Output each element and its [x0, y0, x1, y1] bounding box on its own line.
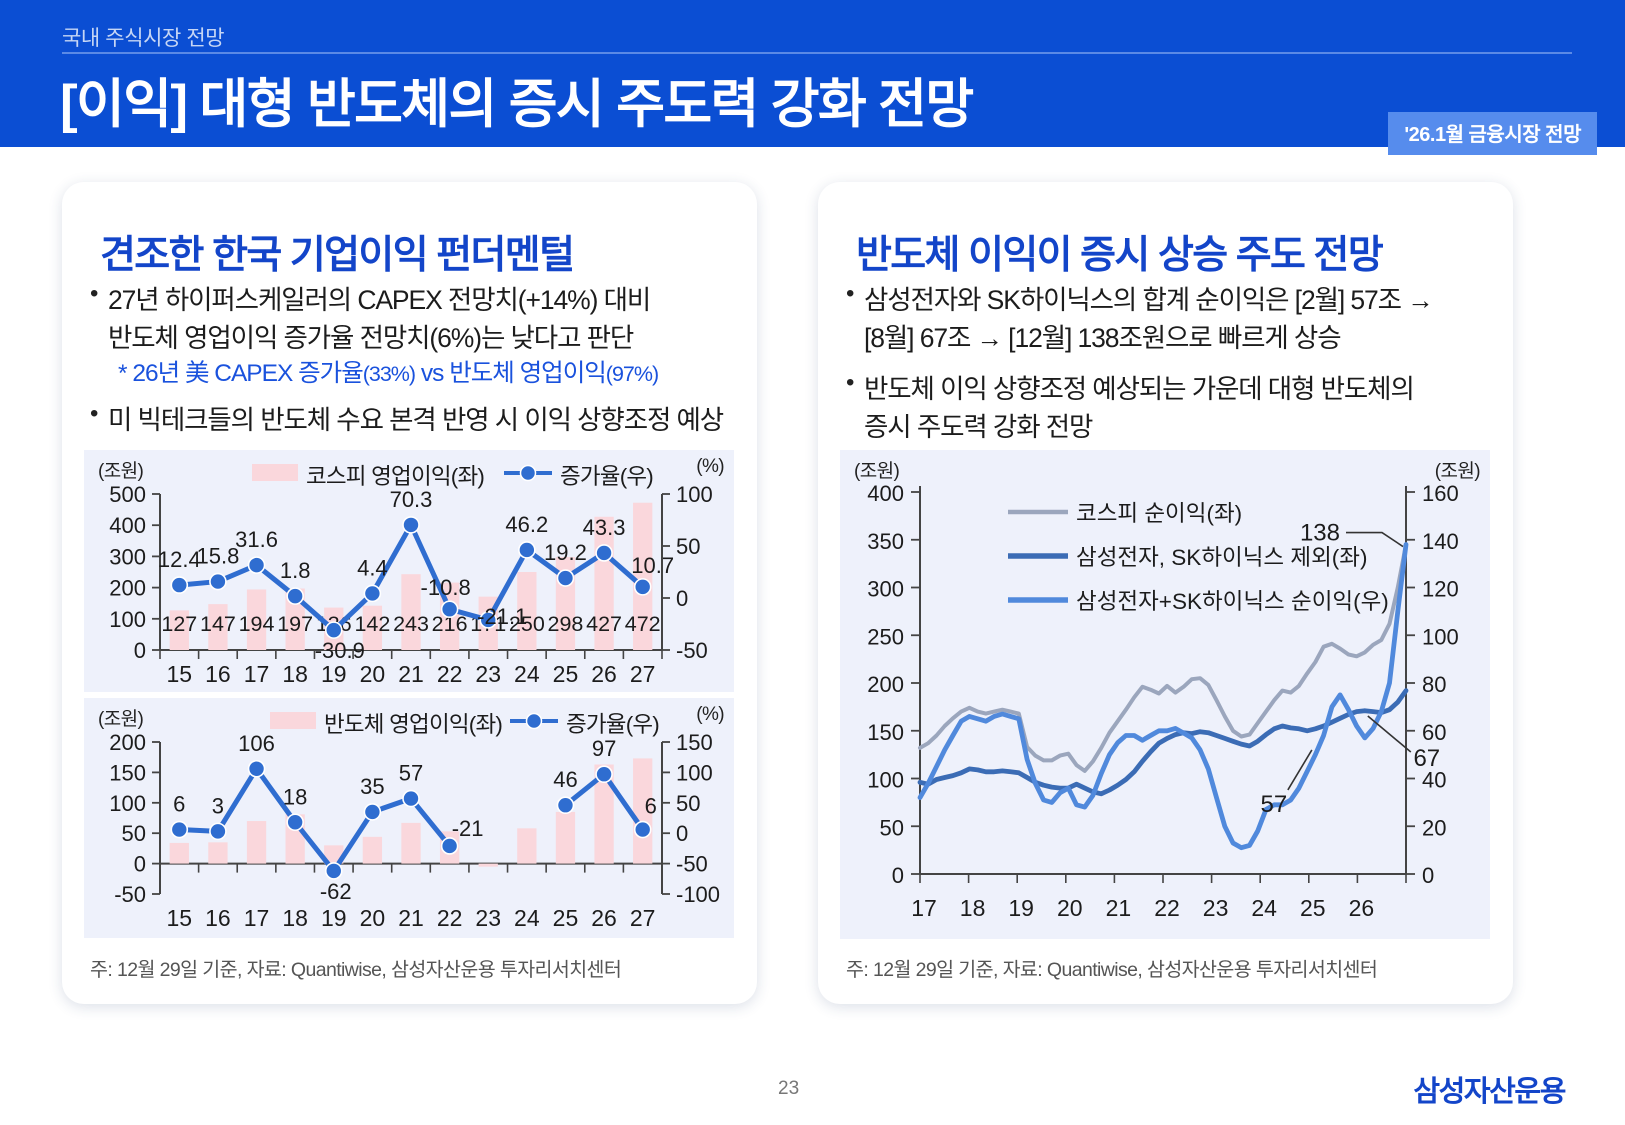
line-data-label: 1.8 [280, 558, 311, 583]
line-data-point [249, 557, 265, 573]
bullet-item: 미 빅테크들의 반도체 수요 본격 반영 시 이익 상향조정 예상 [86, 402, 758, 440]
left-panel: 견조한 한국 기업이익 펀더멘털 27년 하이퍼스케일러의 CAPEX 전망치(… [62, 182, 757, 1004]
line-data-point [326, 863, 342, 879]
x-axis-tick-label: 19 [321, 905, 347, 931]
bar-value-label: 197 [277, 612, 313, 636]
line-data-point [171, 822, 187, 838]
annotation-leader-67 [1368, 716, 1411, 752]
line-data-label: 3 [212, 793, 224, 818]
page-title: [이익] 대형 반도체의 증시 주도력 강화 전망 [60, 62, 973, 138]
right-axis-tick-label: 0 [1422, 863, 1434, 888]
chart3-legend-label: 코스피 순이익(좌) [1076, 501, 1242, 526]
bar-value-label: 147 [200, 612, 236, 636]
right-axis-tick-label: 0 [676, 586, 688, 611]
chart-kospi-operating-profit: (조원) (%) 코스피 영업이익(좌) 증가율(우) 500400300200… [84, 450, 734, 692]
left-panel-bullets: 27년 하이퍼스케일러의 CAPEX 전망치(+14%) 대비 반도체 영업이익… [86, 282, 758, 442]
left-axis-tick-label: 200 [867, 672, 904, 697]
line-data-point [635, 579, 651, 595]
line-data-label: 106 [238, 731, 275, 756]
x-axis-tick-label: 17 [911, 895, 937, 921]
x-axis-tick-label: 23 [475, 661, 501, 687]
bullet-item: 27년 하이퍼스케일러의 CAPEX 전망치(+14%) 대비 반도체 영업이익… [86, 282, 758, 392]
x-axis-tick-label: 20 [360, 905, 386, 931]
x-axis-tick-label: 19 [321, 661, 347, 687]
annotation-label-57: 57 [1261, 791, 1288, 818]
left-axis-tick-label: 50 [122, 821, 146, 846]
left-panel-title: 견조한 한국 기업이익 펀더멘털 [100, 224, 573, 280]
subnote-part-b: (33%) [363, 362, 415, 386]
line-data-point [326, 622, 342, 638]
x-axis-tick-label: 20 [1057, 895, 1083, 921]
right-axis-tick-label: 100 [1422, 624, 1459, 649]
bullet-line: 삼성전자와 SK하이닉스의 합계 순이익은 [2월] 57조 → [864, 282, 1514, 320]
line-data-label: 31.6 [235, 527, 278, 552]
x-axis-tick-label: 24 [514, 905, 540, 931]
line-data-point [287, 814, 303, 830]
x-axis-tick-label: 23 [475, 905, 501, 931]
line-data-point [403, 517, 419, 533]
line-data-point [596, 766, 612, 782]
x-axis-tick-label: 25 [553, 905, 579, 931]
left-axis-tick-label: -50 [114, 882, 146, 907]
line-data-point [403, 791, 419, 807]
bar-value-label: 472 [625, 612, 661, 636]
bullet-line: [8월] 67조 → [12월] 138조원으로 빠르게 상승 [864, 320, 1514, 358]
right-axis-tick-label: 120 [1422, 577, 1459, 602]
x-axis-tick-label: 22 [1154, 895, 1180, 921]
line-data-label: 12.4 [158, 547, 201, 572]
chart-net-profit-trend: (조원) (조원) 코스피 순이익(좌)삼성전자, SK하이닉스 제외(좌)삼성… [840, 450, 1490, 939]
header-divider [62, 52, 1572, 54]
bar-value-label: 427 [586, 612, 622, 636]
slide-header: 국내 주식시장 전망 [이익] 대형 반도체의 증시 주도력 강화 전망 '26… [0, 0, 1625, 147]
x-axis-tick-label: 15 [167, 905, 193, 931]
line-data-label: 70.3 [390, 487, 433, 512]
line-data-point [557, 797, 573, 813]
bar [247, 821, 266, 864]
line-data-point [442, 601, 458, 617]
right-axis-tick-label: 100 [676, 482, 713, 507]
bullet-line: 반도체 이익 상향조정 예상되는 가운데 대형 반도체의 [864, 371, 1514, 409]
x-axis-tick-label: 15 [167, 661, 193, 687]
x-axis-tick-label: 25 [553, 661, 579, 687]
right-axis-tick-label: 150 [676, 730, 713, 755]
right-axis-tick-label: 20 [1422, 815, 1446, 840]
header-eyebrow: 국내 주식시장 전망 [62, 22, 224, 52]
x-axis-tick-label: 24 [1251, 895, 1277, 921]
bullet-line: 반도체 영업이익 증가율 전망치(6%)는 낮다고 판단 [108, 320, 758, 358]
right-axis-tick-label: 0 [676, 821, 688, 846]
bar [363, 837, 382, 864]
line-data-label: 15.8 [197, 544, 240, 569]
bar-value-label: 243 [393, 612, 429, 636]
c2plot-svg: 200150100500-50150100500-50-100151617181… [84, 698, 734, 938]
right-axis-tick-label: -50 [676, 638, 708, 663]
line-data-label: 4.4 [357, 555, 388, 580]
line-data-label: -10.8 [421, 575, 471, 600]
line-data-point [171, 577, 187, 593]
bar [517, 828, 536, 863]
bar [208, 842, 227, 863]
line-data-point [364, 804, 380, 820]
x-axis-tick-label: 19 [1008, 895, 1034, 921]
series-line [920, 545, 1406, 771]
left-axis-tick-label: 300 [867, 577, 904, 602]
right-panel-footnote: 주: 12월 29일 기준, 자료: Quantiwise, 삼성자산운용 투자… [846, 953, 1377, 982]
bullet-item: 반도체 이익 상향조정 예상되는 가운데 대형 반도체의 증시 주도력 강화 전… [842, 371, 1514, 446]
left-axis-tick-label: 100 [109, 607, 146, 632]
line-data-point [364, 585, 380, 601]
x-axis-tick-label: 26 [591, 905, 617, 931]
line-data-label: 43.3 [583, 515, 626, 540]
right-panel-title: 반도체 이익이 증시 상승 주도 전망 [856, 224, 1382, 280]
left-axis-tick-label: 200 [109, 576, 146, 601]
bar-value-label: 142 [354, 612, 390, 636]
left-axis-tick-label: 200 [109, 730, 146, 755]
line-data-point [210, 574, 226, 590]
annotation-label-67: 67 [1413, 745, 1440, 772]
annotation-label-138: 138 [1300, 520, 1340, 547]
report-badge: '26.1월 금융시장 전망 [1388, 112, 1597, 155]
x-axis-tick-label: 21 [398, 661, 424, 687]
c1plot-svg: 5004003002001000100500-50151617181920212… [84, 450, 734, 692]
x-axis-tick-label: 26 [1349, 895, 1375, 921]
line-data-point [249, 761, 265, 777]
subnote-part-c: vs 반도체 영업이익 [415, 360, 606, 387]
right-axis-tick-label: -50 [676, 852, 708, 877]
left-axis-tick-label: 400 [867, 481, 904, 506]
line-data-label: -21 [452, 816, 484, 841]
line-data-point [635, 822, 651, 838]
left-axis-tick-label: 250 [867, 624, 904, 649]
x-axis-tick-label: 24 [514, 661, 540, 687]
bar [479, 864, 498, 867]
x-axis-tick-label: 16 [205, 905, 231, 931]
left-axis-tick-label: 300 [109, 544, 146, 569]
line-data-label: 46.2 [505, 512, 548, 537]
bullet-line: 미 빅테크들의 반도체 수요 본격 반영 시 이익 상향조정 예상 [108, 402, 758, 440]
line-data-label: 10.7 [631, 553, 674, 578]
x-axis-tick-label: 18 [282, 661, 308, 687]
x-axis-tick-label: 21 [1106, 895, 1132, 921]
x-axis-tick-label: 18 [960, 895, 986, 921]
x-axis-tick-label: 27 [630, 905, 656, 931]
x-axis-tick-label: 25 [1300, 895, 1326, 921]
x-axis-tick-label: 16 [205, 661, 231, 687]
right-axis-tick-label: 50 [676, 534, 700, 559]
x-axis-tick-label: 23 [1203, 895, 1229, 921]
left-axis-tick-label: 150 [867, 720, 904, 745]
left-axis-tick-label: 0 [892, 863, 904, 888]
right-axis-tick-label: -100 [676, 882, 720, 907]
page-number: 23 [778, 1078, 799, 1100]
line-data-point [210, 823, 226, 839]
left-axis-tick-label: 400 [109, 513, 146, 538]
right-axis-tick-label: 80 [1422, 672, 1446, 697]
line-data-label: 57 [399, 761, 423, 786]
line-data-label: -21.1 [477, 604, 527, 629]
chart3-legend-label: 삼성전자, SK하이닉스 제외(좌) [1076, 545, 1367, 570]
subnote-part-d: (97%) [606, 362, 658, 386]
line-data-label: 46 [553, 767, 577, 792]
line-data-point [596, 545, 612, 561]
line-data-label: -30.9 [315, 638, 365, 663]
brand-logo: 삼성자산운용 [1413, 1068, 1565, 1110]
chart-semiconductor-operating-profit: (조원) (%) 반도체 영업이익(좌) 증가율(우) 200150100500… [84, 698, 734, 938]
bullet-subnote: * 26년 美 CAPEX 증가율(33%) vs 반도체 영업이익(97%) [108, 357, 758, 392]
x-axis-tick-label: 20 [360, 661, 386, 687]
line-data-point [519, 542, 535, 558]
bullet-line: 증시 주도력 강화 전망 [864, 409, 1514, 447]
line-data-label: 18 [283, 784, 307, 809]
x-axis-tick-label: 17 [244, 661, 270, 687]
subnote-part-a: * 26년 美 CAPEX 증가율 [118, 360, 363, 387]
right-axis-tick-label: 100 [676, 760, 713, 785]
left-axis-tick-label: 100 [109, 791, 146, 816]
right-panel: 반도체 이익이 증시 상승 주도 전망 삼성전자와 SK하이닉스의 합계 순이익… [818, 182, 1513, 1004]
right-axis-tick-label: 60 [1422, 720, 1446, 745]
line-data-label: -62 [320, 879, 352, 904]
left-axis-tick-label: 100 [867, 768, 904, 793]
left-axis-tick-label: 500 [109, 482, 146, 507]
left-axis-tick-label: 50 [880, 815, 904, 840]
line-data-point [557, 570, 573, 586]
left-axis-tick-label: 0 [134, 638, 146, 663]
x-axis-tick-label: 21 [398, 905, 424, 931]
right-axis-tick-label: 50 [676, 791, 700, 816]
bullet-line: 27년 하이퍼스케일러의 CAPEX 전망치(+14%) 대비 [108, 282, 758, 320]
right-axis-tick-label: 140 [1422, 529, 1459, 554]
bar [170, 843, 189, 864]
bar-value-label: 298 [548, 612, 584, 636]
line-data-label: 97 [592, 736, 616, 761]
x-axis-tick-label: 22 [437, 905, 463, 931]
bar [556, 812, 575, 864]
x-axis-tick-label: 18 [282, 905, 308, 931]
x-axis-tick-label: 27 [630, 661, 656, 687]
right-panel-bullets: 삼성전자와 SK하이닉스의 합계 순이익은 [2월] 57조 → [8월] 67… [842, 282, 1514, 449]
line-data-label: 35 [360, 774, 384, 799]
bar [401, 823, 420, 864]
line-data-point [287, 588, 303, 604]
line-data-label: 6 [645, 794, 657, 819]
left-axis-tick-label: 350 [867, 529, 904, 554]
x-axis-tick-label: 26 [591, 661, 617, 687]
left-axis-tick-label: 150 [109, 760, 146, 785]
right-axis-tick-label: 160 [1422, 481, 1459, 506]
line-data-label: 6 [173, 792, 185, 817]
bar-value-label: 194 [239, 612, 275, 636]
line-data-label: 19.2 [544, 540, 587, 565]
x-axis-tick-label: 22 [437, 661, 463, 687]
bar-value-label: 127 [161, 612, 197, 636]
x-axis-tick-label: 17 [244, 905, 270, 931]
left-axis-tick-label: 0 [134, 852, 146, 877]
left-panel-footnote: 주: 12월 29일 기준, 자료: Quantiwise, 삼성자산운용 투자… [90, 953, 621, 982]
chart3-legend-label: 삼성전자+SK하이닉스 순이익(우) [1076, 589, 1389, 614]
chart3-svg: 코스피 순이익(좌)삼성전자, SK하이닉스 제외(좌)삼성전자+SK하이닉스 … [840, 450, 1490, 939]
bullet-item: 삼성전자와 SK하이닉스의 합계 순이익은 [2월] 57조 → [8월] 67… [842, 282, 1514, 357]
